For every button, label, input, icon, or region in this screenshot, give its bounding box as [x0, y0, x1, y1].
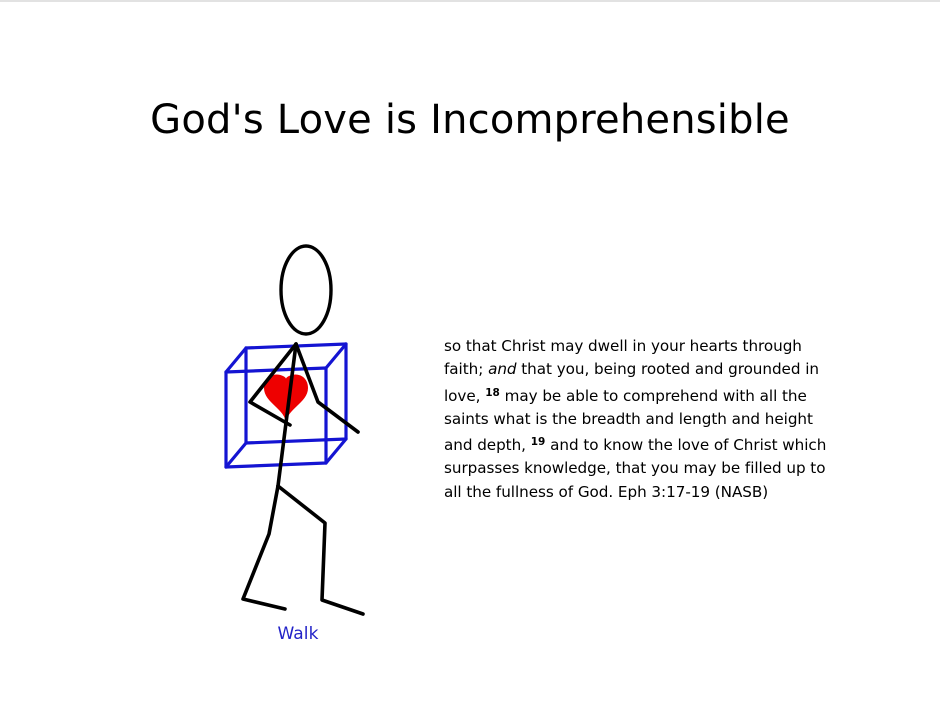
- cube-edge-top-left: [226, 348, 246, 372]
- right-leg: [278, 486, 363, 614]
- slide-canvas: God's Love is Incomprehensible: [0, 0, 940, 726]
- scripture-text-block: so that Christ may dwell in your hearts …: [444, 335, 844, 504]
- verse-number: 18: [485, 387, 500, 399]
- verse-number: 19: [531, 436, 546, 448]
- left-leg: [243, 486, 285, 609]
- illustration-caption: Walk: [238, 624, 358, 644]
- cube-edge-top-right: [326, 344, 346, 368]
- scripture-emphasis: and: [488, 360, 516, 378]
- cube-edge-bottom-right: [326, 439, 346, 463]
- page-title: God's Love is Incomprehensible: [0, 97, 940, 143]
- cube-edge-bottom-left: [226, 443, 246, 467]
- illustration-stick-figure: [200, 237, 420, 637]
- figure-svg: [200, 237, 420, 637]
- stick-figure-head: [281, 246, 331, 334]
